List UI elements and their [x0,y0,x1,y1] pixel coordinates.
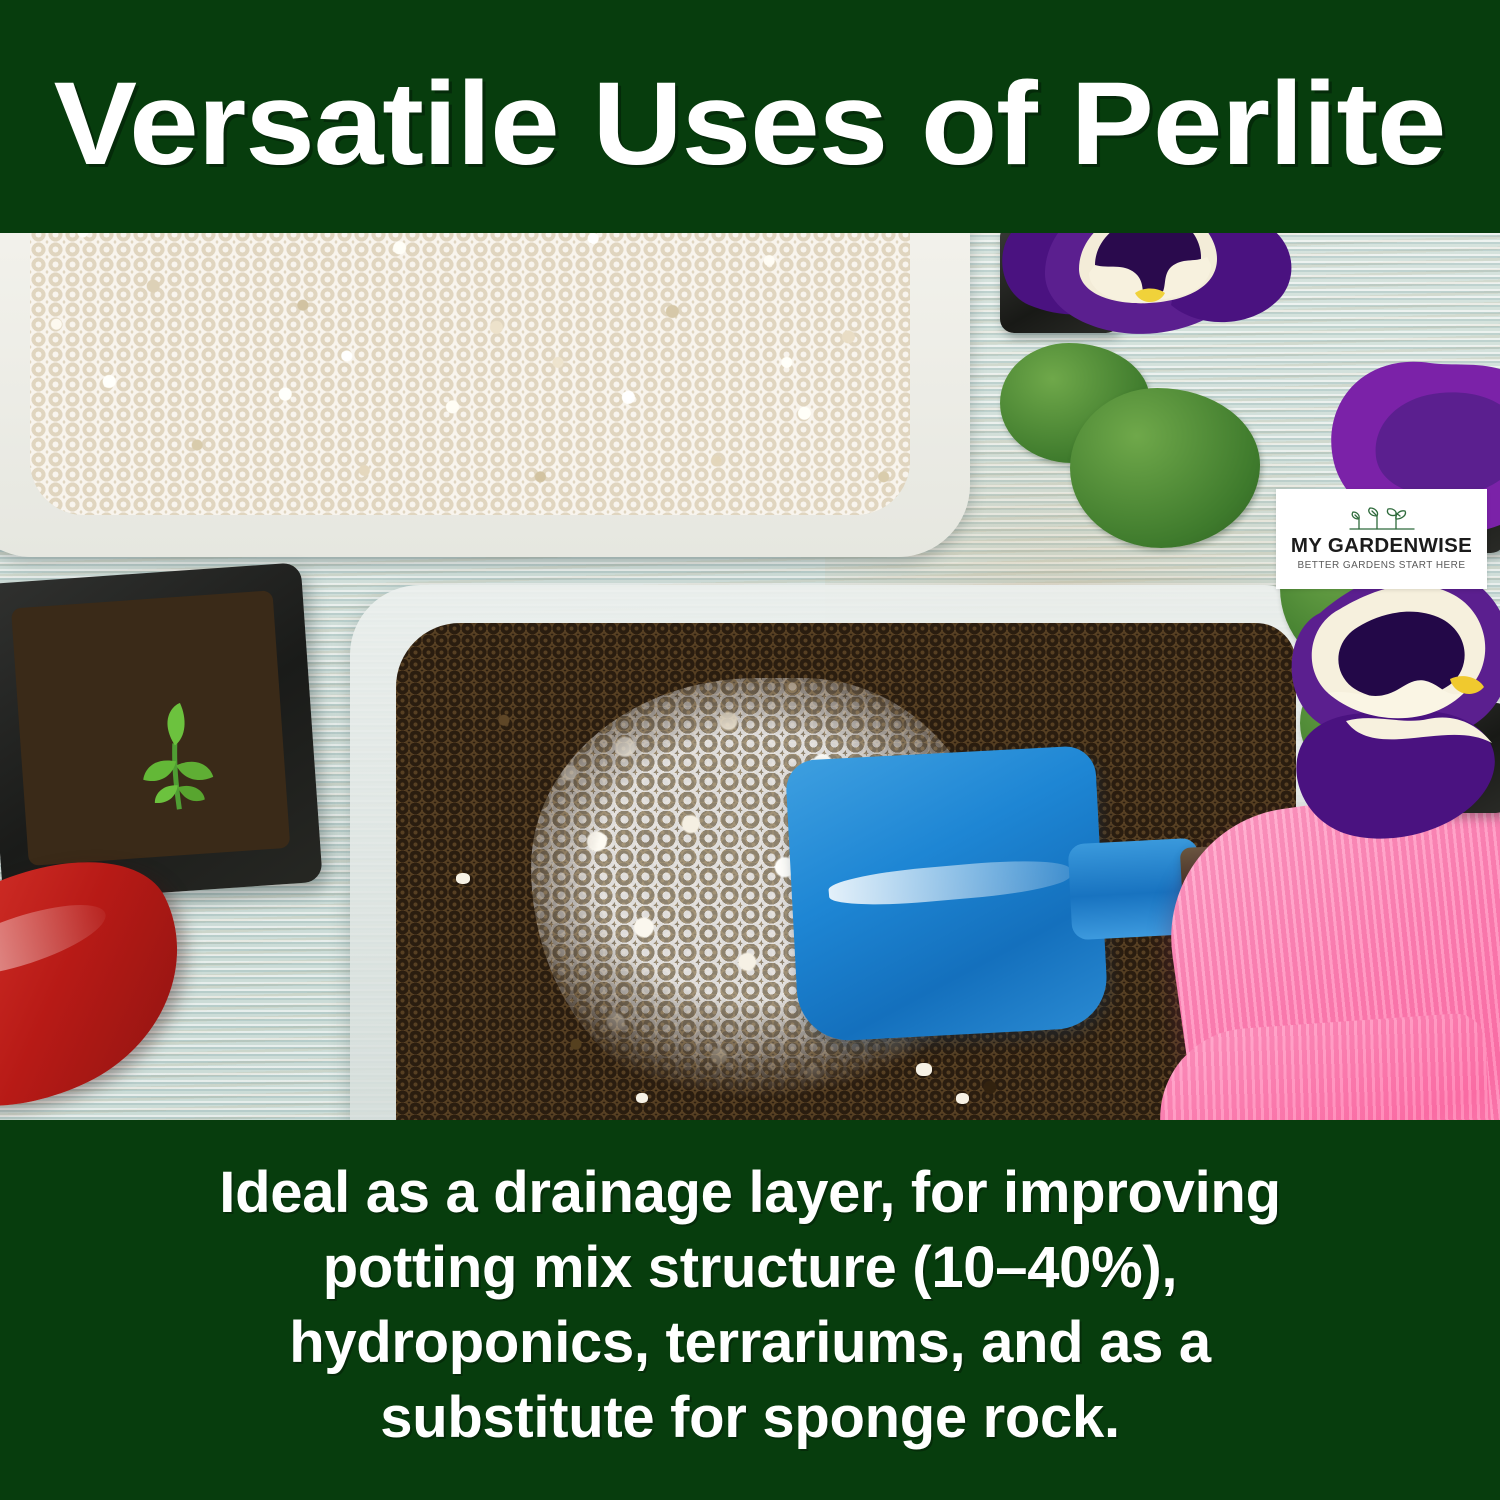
pansy-flower-right-lower [1280,553,1500,843]
caption-banner: Ideal as a drainage layer, for improving… [0,1120,1500,1500]
caption-line-3: hydroponics, terrariums, and as a [289,1306,1211,1381]
perlite-speck [956,1093,969,1104]
perlite-speck [456,873,470,884]
logo-tagline: BETTER GARDENS START HERE [1298,561,1466,571]
logo-brand-name: MY GARDENWISE [1291,536,1472,557]
perlite-infographic-poster: Versatile Uses of Perlite [0,0,1500,1500]
caption-line-2: potting mix structure (10–40%), [323,1231,1177,1306]
header-banner: Versatile Uses of Perlite [0,0,1500,233]
brand-logo: MY GARDENWISE BETTER GARDENS START HERE [1276,489,1487,589]
caption-line-4: substitute for sponge rock. [380,1381,1120,1456]
perlite-tray-interior [30,233,910,515]
seedling-pot [0,562,323,904]
gardening-photo: MY GARDENWISE BETTER GARDENS START HERE [0,233,1500,1120]
seedling-plant-icon [109,685,248,824]
three-sprouts-icon [1346,507,1418,533]
perlite-granules [30,233,910,515]
page-title: Versatile Uses of Perlite [54,51,1446,183]
caption-line-1: Ideal as a drainage layer, for improving [219,1156,1280,1231]
perlite-tray [0,233,970,557]
perlite-speck [916,1063,932,1076]
pansy-flower-top [985,233,1315,433]
blue-trowel-blade [785,745,1109,1043]
perlite-speck [636,1093,648,1103]
